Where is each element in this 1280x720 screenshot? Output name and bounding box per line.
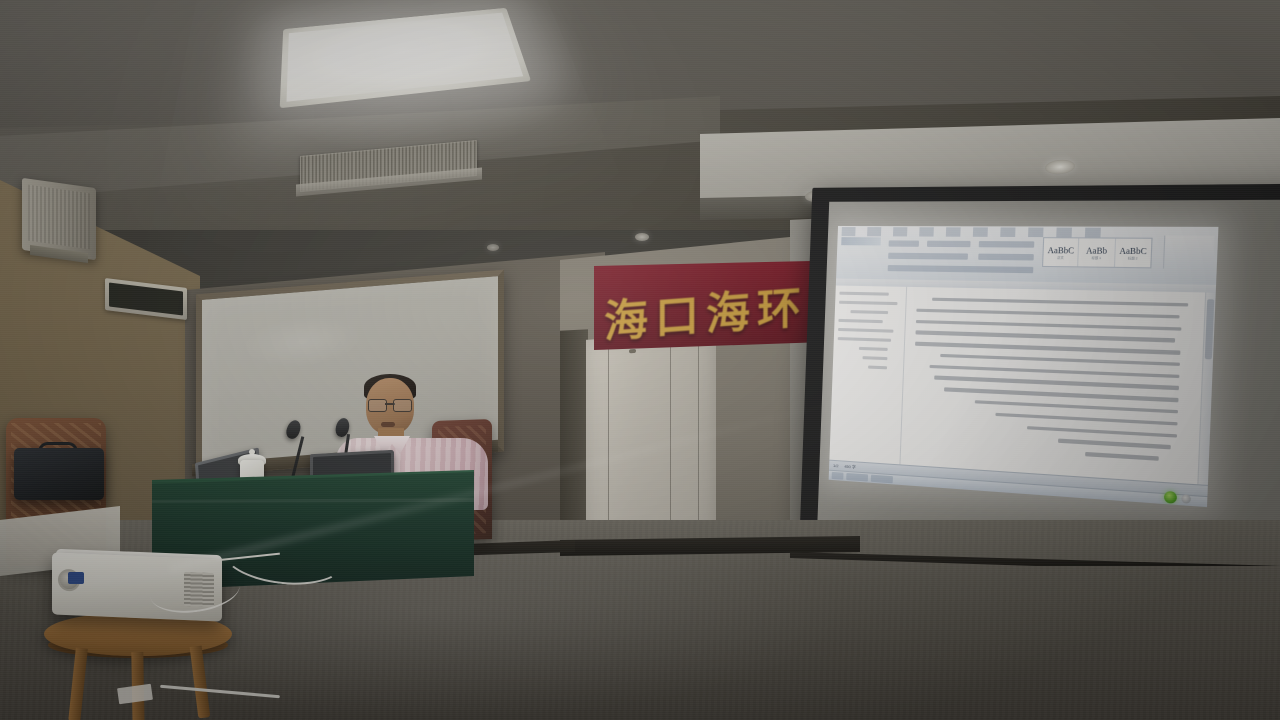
ribbon-row-extra-tools[interactable]	[888, 265, 1034, 273]
ribbon-group-clipboard[interactable]	[889, 240, 919, 246]
style-item[interactable]: AaBbC 标题 2	[1115, 239, 1152, 268]
nav-entry[interactable]	[862, 356, 888, 360]
nav-entry[interactable]	[850, 310, 888, 314]
document-line	[1085, 452, 1158, 460]
document-line	[916, 308, 1179, 318]
security-shield-icon[interactable]	[1164, 491, 1177, 504]
ribbon-group-font[interactable]	[927, 241, 971, 248]
document-line	[932, 298, 1188, 307]
start-button[interactable]	[832, 472, 844, 480]
style-preview: AaBbC	[1048, 245, 1075, 255]
stool-leg	[190, 646, 211, 719]
panel-seam	[698, 333, 699, 549]
nav-entry[interactable]	[838, 337, 891, 342]
document-page[interactable]	[900, 287, 1205, 484]
settings-icon[interactable]	[1181, 494, 1191, 503]
style-name: 正文	[1057, 255, 1064, 259]
downlight-icon	[487, 244, 499, 251]
status-word-count: 450 字	[844, 463, 856, 470]
scrollbar-thumb[interactable]	[1205, 299, 1215, 359]
ribbon-tabs[interactable]	[842, 227, 1104, 237]
ribbon-row-paragraph-tools[interactable]	[978, 254, 1034, 261]
ribbon-row-font-tools[interactable]	[888, 253, 968, 260]
lecture-room-photo: 海口海环院环 境 AaBbC	[0, 0, 1280, 720]
ribbon-group-editing[interactable]	[1163, 236, 1215, 270]
document-line	[1059, 439, 1171, 449]
style-item[interactable]: AaBb 标题 1	[1079, 238, 1116, 266]
nav-entry[interactable]	[838, 319, 882, 323]
word-document-body[interactable]	[829, 286, 1215, 485]
taskbar-window-item[interactable]	[846, 473, 868, 482]
document-line	[1027, 426, 1178, 438]
whiteboard-smudge	[242, 312, 362, 372]
nav-entry[interactable]	[838, 328, 894, 333]
style-preview: AaBb	[1086, 245, 1107, 255]
nav-entry[interactable]	[868, 366, 887, 370]
glasses-lens-left	[368, 399, 387, 412]
laptop-bag	[14, 448, 104, 500]
nav-entry[interactable]	[839, 292, 888, 296]
nav-entry[interactable]	[859, 347, 888, 351]
downlight-icon	[635, 233, 649, 241]
navigation-pane[interactable]	[829, 286, 907, 465]
stool-leg	[68, 648, 88, 720]
style-name: 标题 2	[1128, 256, 1138, 260]
document-line	[940, 354, 1180, 366]
projection-screen-surface: AaBbC 正文 AaBb 标题 1 AaBbC 标题 2	[817, 200, 1280, 562]
quick-access-toolbar[interactable]	[841, 237, 881, 245]
document-line	[929, 365, 1179, 379]
document-line	[915, 331, 1175, 343]
glasses-lens-right	[393, 399, 412, 412]
style-name: 标题 1	[1091, 255, 1101, 259]
ribbon-group-paragraph[interactable]	[979, 241, 1035, 248]
style-gallery[interactable]: AaBbC 正文 AaBb 标题 1 AaBbC 标题 2	[1042, 237, 1153, 268]
style-item[interactable]: AaBbC 正文	[1043, 238, 1080, 266]
wooden-stool	[44, 612, 232, 720]
word-ribbon[interactable]: AaBbC 正文 AaBb 标题 1 AaBbC 标题 2	[836, 226, 1218, 286]
mouth	[381, 422, 395, 427]
taskbar-window-item[interactable]	[871, 475, 893, 484]
status-page-info: 1/2	[833, 463, 839, 468]
document-line	[915, 342, 1180, 355]
projected-word-window[interactable]: AaBbC 正文 AaBb 标题 1 AaBbC 标题 2	[829, 226, 1219, 507]
panel-seam	[670, 335, 671, 551]
document-line	[975, 400, 1179, 414]
projector-cable-plug	[68, 572, 84, 584]
document-line	[995, 413, 1177, 426]
nav-entry[interactable]	[839, 301, 897, 305]
style-preview: AaBbC	[1119, 246, 1147, 256]
glasses-icon	[368, 399, 412, 410]
document-line	[916, 320, 1182, 331]
